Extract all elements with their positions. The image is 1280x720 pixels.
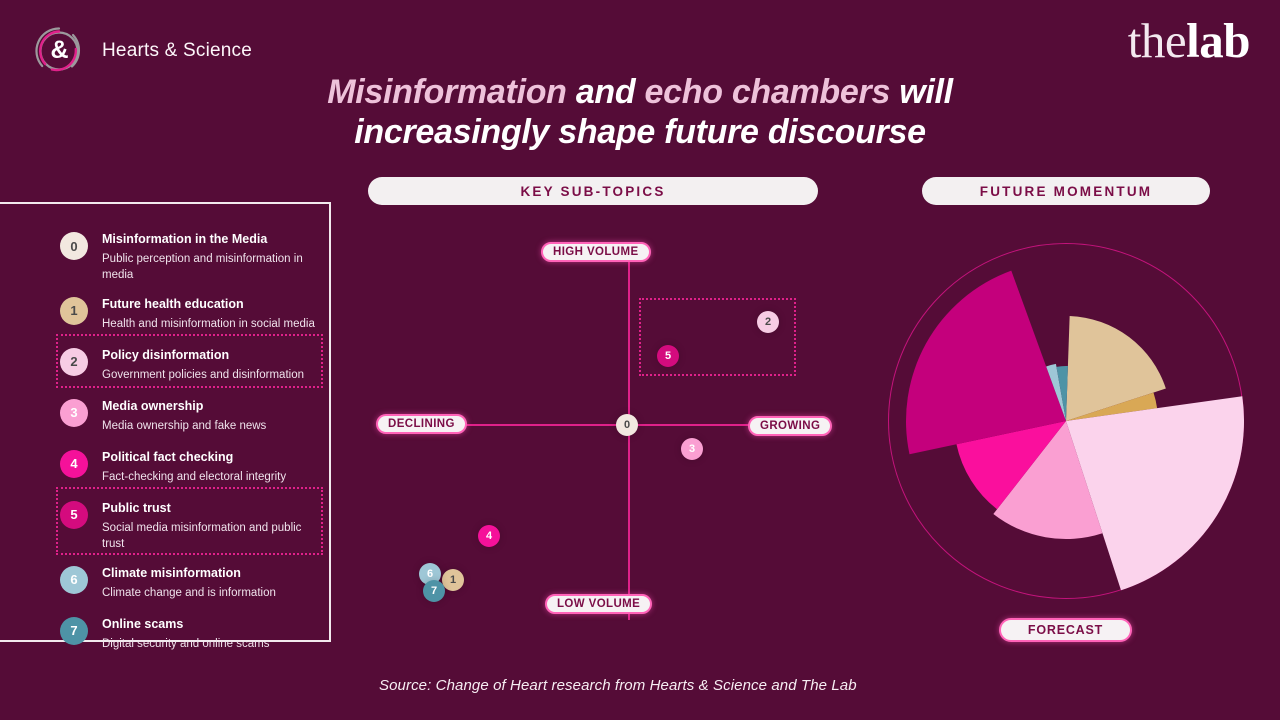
legend-bubble-1: 1 xyxy=(60,297,88,325)
legend-item-description: Media ownership and fake news xyxy=(102,415,321,435)
panel-title-future-momentum: FUTURE MOMENTUM xyxy=(922,177,1210,205)
title-word-and: and xyxy=(576,73,636,111)
slide-canvas: & Hearts & Science thelab Misinformation… xyxy=(0,0,1280,720)
scatter-point-1[interactable]: 1 xyxy=(442,569,464,591)
legend-bubble-6: 6 xyxy=(60,566,88,594)
legend-item-title: Public trust xyxy=(102,489,321,517)
legend-item-6[interactable]: 6Climate misinformationClimate change an… xyxy=(58,554,321,604)
legend-item-description: Health and misinformation in social medi… xyxy=(102,313,321,333)
legend-item-title: Policy disinformation xyxy=(102,336,321,364)
brand-name: Hearts & Science xyxy=(102,40,252,62)
legend-item-title: Misinformation in the Media xyxy=(102,220,321,248)
legend-bubble-3: 3 xyxy=(60,399,88,427)
legend-list: 0Misinformation in the MediaPublic perce… xyxy=(58,220,321,656)
ampersand-ring-icon: & xyxy=(32,24,86,78)
scatter-point-3[interactable]: 3 xyxy=(681,438,703,460)
legend-item-description: Fact-checking and electoral integrity xyxy=(102,466,321,486)
page-title: Misinformation and echo chambers will in… xyxy=(0,72,1280,152)
title-word-will: will xyxy=(899,73,953,111)
legend-item-7[interactable]: 7Online scamsDigital security and online… xyxy=(58,605,321,655)
legend-item-4[interactable]: 4Political fact checkingFact-checking an… xyxy=(58,438,321,488)
legend-bubble-2: 2 xyxy=(60,348,88,376)
scatter-point-4[interactable]: 4 xyxy=(478,525,500,547)
brand-lockup: & Hearts & Science xyxy=(32,24,252,78)
future-momentum-rose-chart[interactable] xyxy=(888,243,1244,599)
scatter-point-2[interactable]: 2 xyxy=(757,311,779,333)
scatter-point-7[interactable]: 7 xyxy=(423,580,445,602)
legend-bubble-7: 7 xyxy=(60,617,88,645)
title-word-misinformation: Misinformation xyxy=(327,73,566,111)
axis-label-high-volume: HIGH VOLUME xyxy=(541,242,651,262)
thelab-logo-the: the xyxy=(1128,13,1186,68)
legend-bubble-5: 5 xyxy=(60,501,88,529)
legend-item-3[interactable]: 3Media ownershipMedia ownership and fake… xyxy=(58,387,321,437)
panel-title-key-subtopics: KEY SUB-TOPICS xyxy=(368,177,818,205)
legend-item-title: Future health education xyxy=(102,285,321,313)
title-word-echo-chambers: echo chambers xyxy=(645,73,891,111)
legend-item-1[interactable]: 1Future health educationHealth and misin… xyxy=(58,285,321,335)
axis-label-low-volume: LOW VOLUME xyxy=(545,594,652,614)
thelab-logo: thelab xyxy=(1128,16,1250,65)
scatter-point-0[interactable]: 0 xyxy=(616,414,638,436)
thelab-logo-lab: lab xyxy=(1186,13,1250,68)
title-line-2: increasingly shape future discourse xyxy=(354,113,925,151)
legend-item-title: Online scams xyxy=(102,605,321,633)
axis-label-growing: GROWING xyxy=(748,416,832,436)
brand-ampersand-glyph: & xyxy=(32,24,86,78)
legend-item-description: Digital security and online scams xyxy=(102,633,321,653)
legend-item-title: Climate misinformation xyxy=(102,554,321,582)
legend-bubble-0: 0 xyxy=(60,232,88,260)
legend-item-description: Climate change and is information xyxy=(102,582,321,602)
legend-item-title: Political fact checking xyxy=(102,438,321,466)
rose-chart-slices xyxy=(888,243,1244,599)
legend-item-title: Media ownership xyxy=(102,387,321,415)
legend-item-2[interactable]: 2Policy disinformationGovernment policie… xyxy=(58,336,321,386)
rose-slice-2[interactable] xyxy=(1066,396,1244,590)
legend-item-description: Public perception and misinformation in … xyxy=(102,248,321,284)
legend-panel: 0Misinformation in the MediaPublic perce… xyxy=(0,202,331,642)
legend-item-description: Government policies and disinformation xyxy=(102,364,321,384)
legend-item-0[interactable]: 0Misinformation in the MediaPublic perce… xyxy=(58,220,321,284)
legend-bubble-4: 4 xyxy=(60,450,88,478)
scatter-point-5[interactable]: 5 xyxy=(657,345,679,367)
legend-item-5[interactable]: 5Public trustSocial media misinformation… xyxy=(58,489,321,553)
scatter-vertical-axis xyxy=(628,252,630,620)
caption-forecast: FORECAST xyxy=(999,618,1132,642)
axis-label-declining: DECLINING xyxy=(376,414,467,434)
source-note: Source: Change of Heart research from He… xyxy=(379,677,857,694)
legend-item-description: Social media misinformation and public t… xyxy=(102,517,321,553)
